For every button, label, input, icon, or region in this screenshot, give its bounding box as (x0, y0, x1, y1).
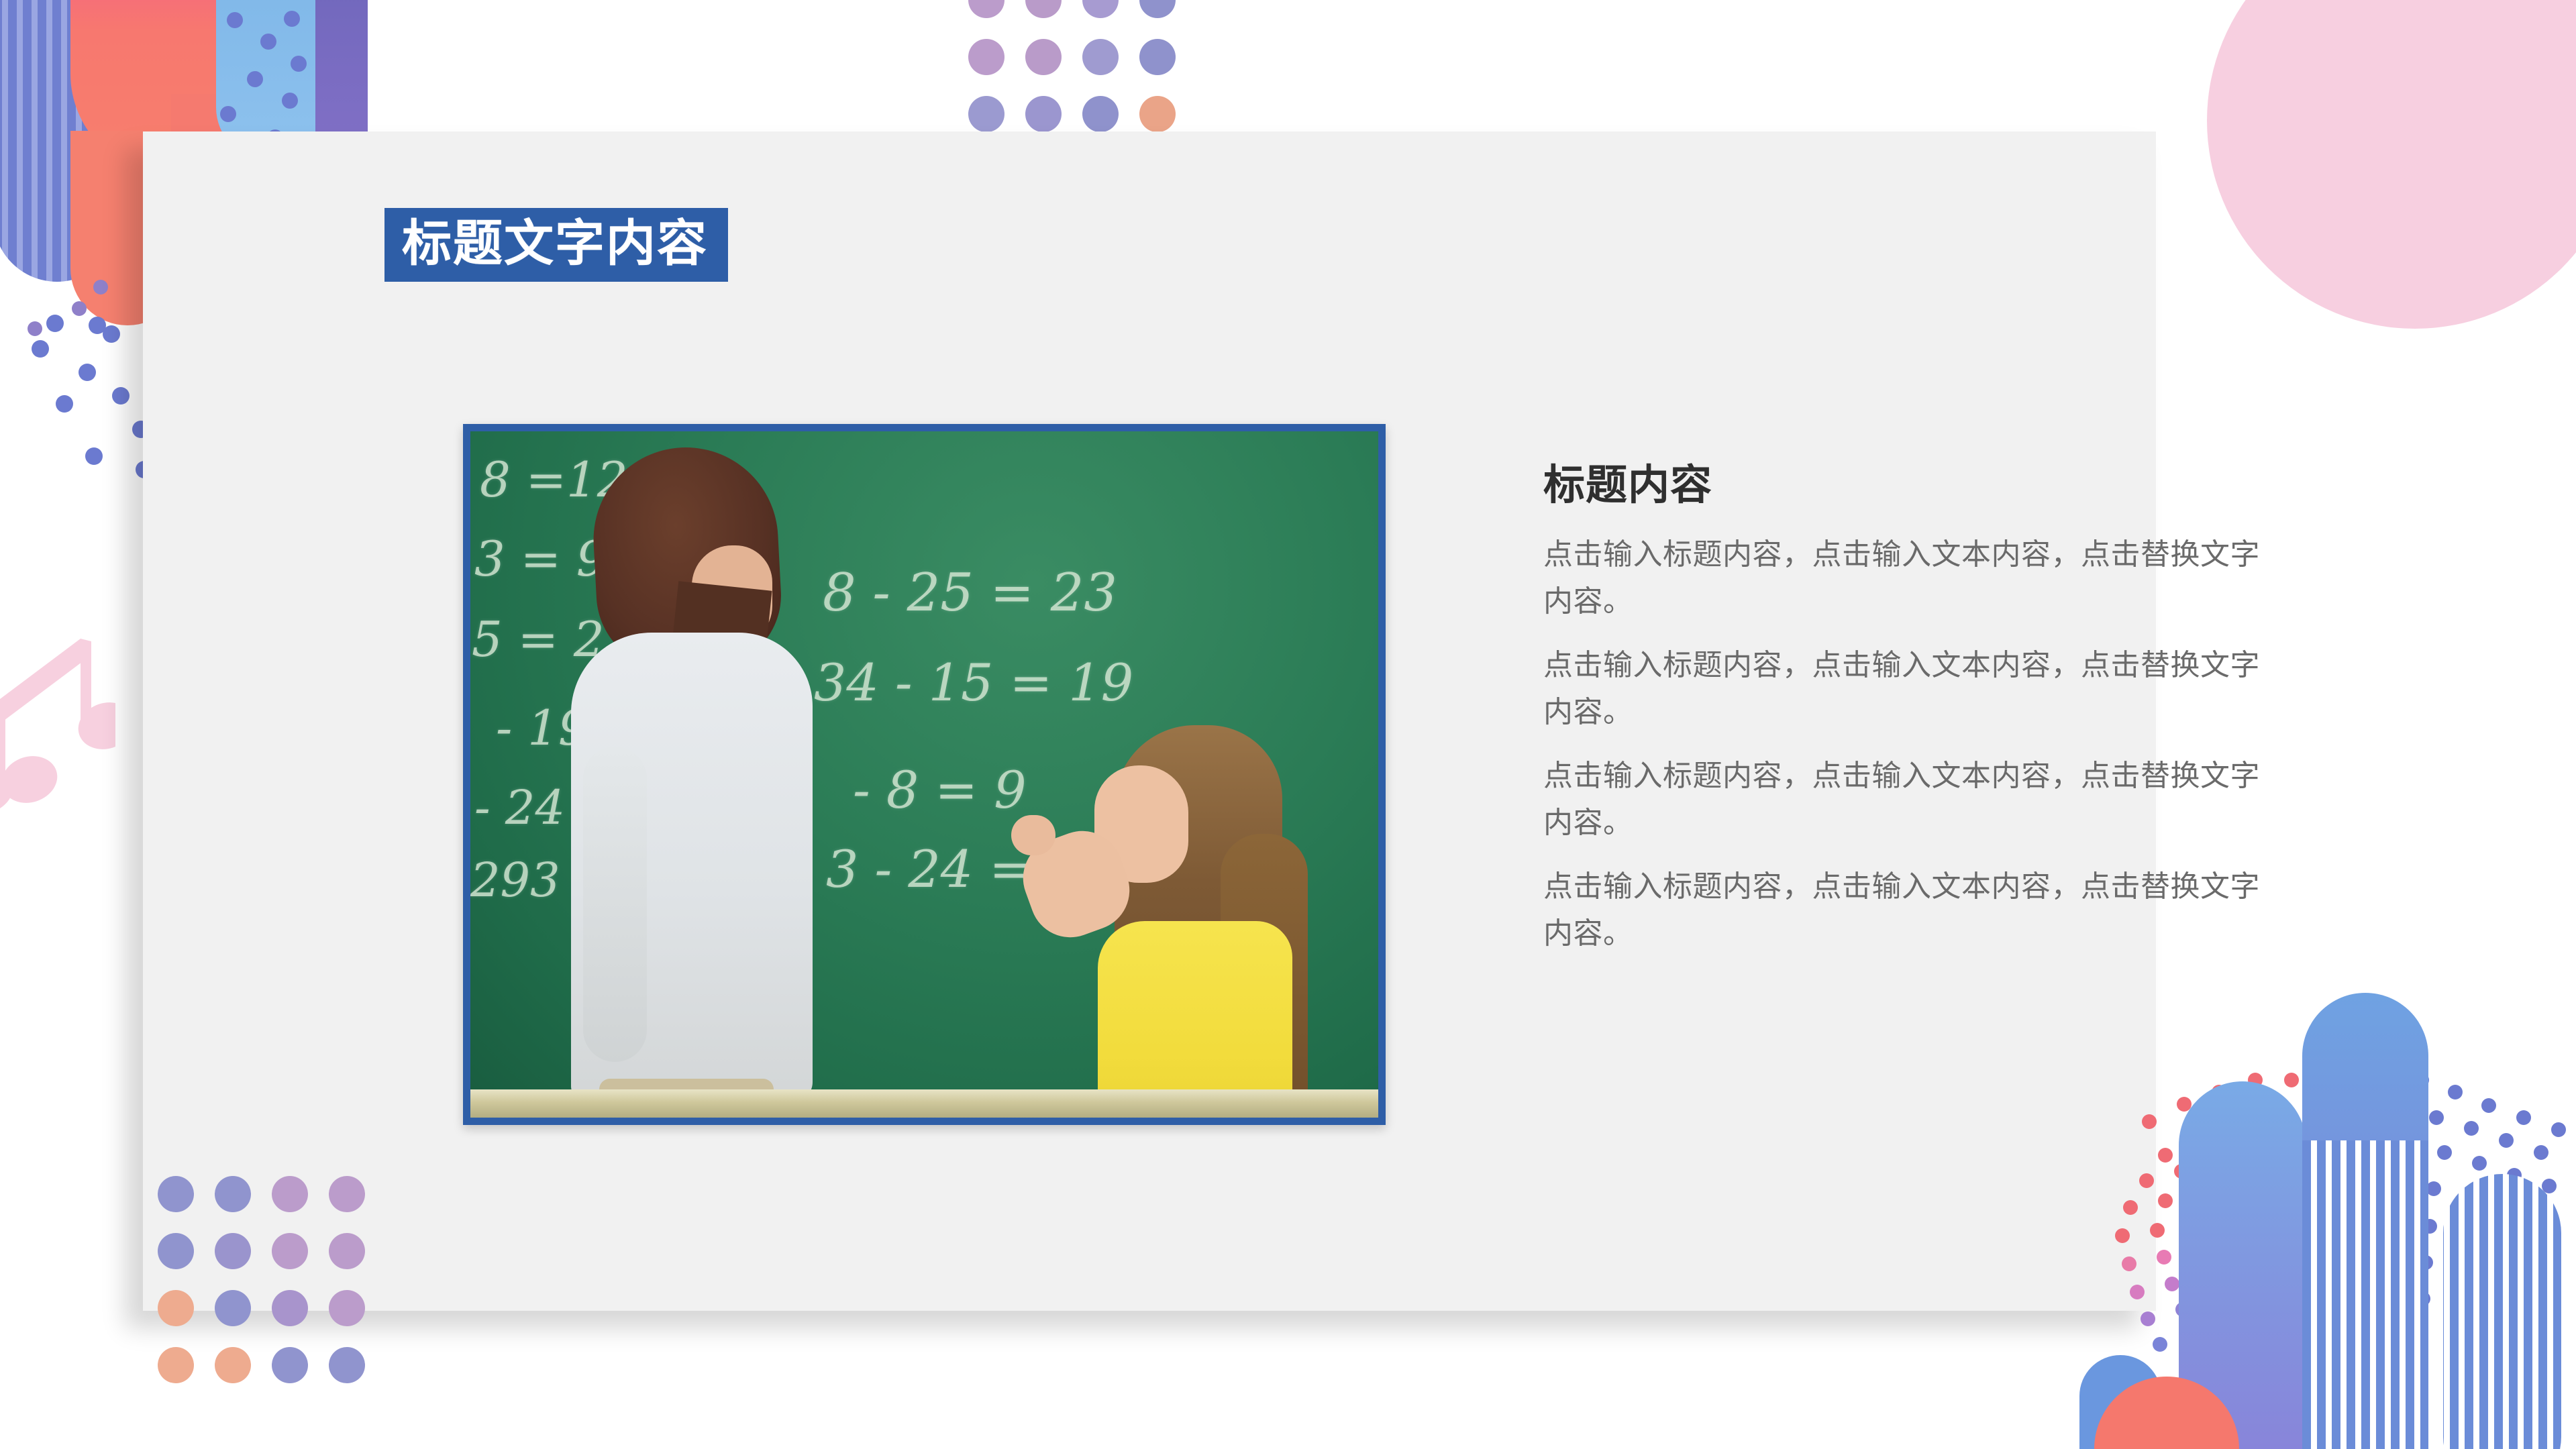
body-paragraph: 点击输入标题内容，点击输入文本内容，点击替换文字内容。 (1543, 863, 2268, 957)
equation-text: 5 = 2 (472, 611, 605, 667)
equation-text: - 24 (474, 780, 565, 835)
music-note-icon (0, 624, 115, 812)
section-heading: 标题内容 (1543, 463, 2268, 508)
decoration-dot-grid-bottom-left (149, 1167, 417, 1449)
equation-text: 3 = 9 (474, 531, 607, 587)
student-hand (1011, 815, 1055, 855)
classroom-photo: 8 =12 3 = 9 5 = 2 - 19 - 24 293 - 8 - 25… (463, 424, 1386, 1125)
page-title-badge: 标题文字内容 (384, 208, 728, 282)
equation-text: - 8 = 9 (853, 760, 1027, 820)
body-paragraph: 点击输入标题内容，点击输入文本内容，点击替换文字内容。 (1543, 642, 2268, 735)
body-paragraph: 点击输入标题内容，点击输入文本内容，点击替换文字内容。 (1543, 753, 2268, 846)
decoration-bottom-right (2066, 979, 2576, 1449)
content-text-column: 标题内容 点击输入标题内容，点击输入文本内容，点击替换文字内容。 点击输入标题内… (1543, 463, 2268, 957)
body-paragraph: 点击输入标题内容，点击输入文本内容，点击替换文字内容。 (1543, 531, 2268, 625)
decoration-pink-circle (2207, 0, 2576, 329)
equation-text: 34 - 15 = 19 (814, 653, 1133, 712)
slide-canvas: 标题文字内容 8 =12 3 = 9 5 = 2 - 19 - 24 293 -… (0, 0, 2576, 1449)
chalk-tray (470, 1089, 1378, 1118)
equation-text: 8 - 25 = 23 (823, 563, 1117, 623)
teacher-arm (583, 747, 647, 1062)
